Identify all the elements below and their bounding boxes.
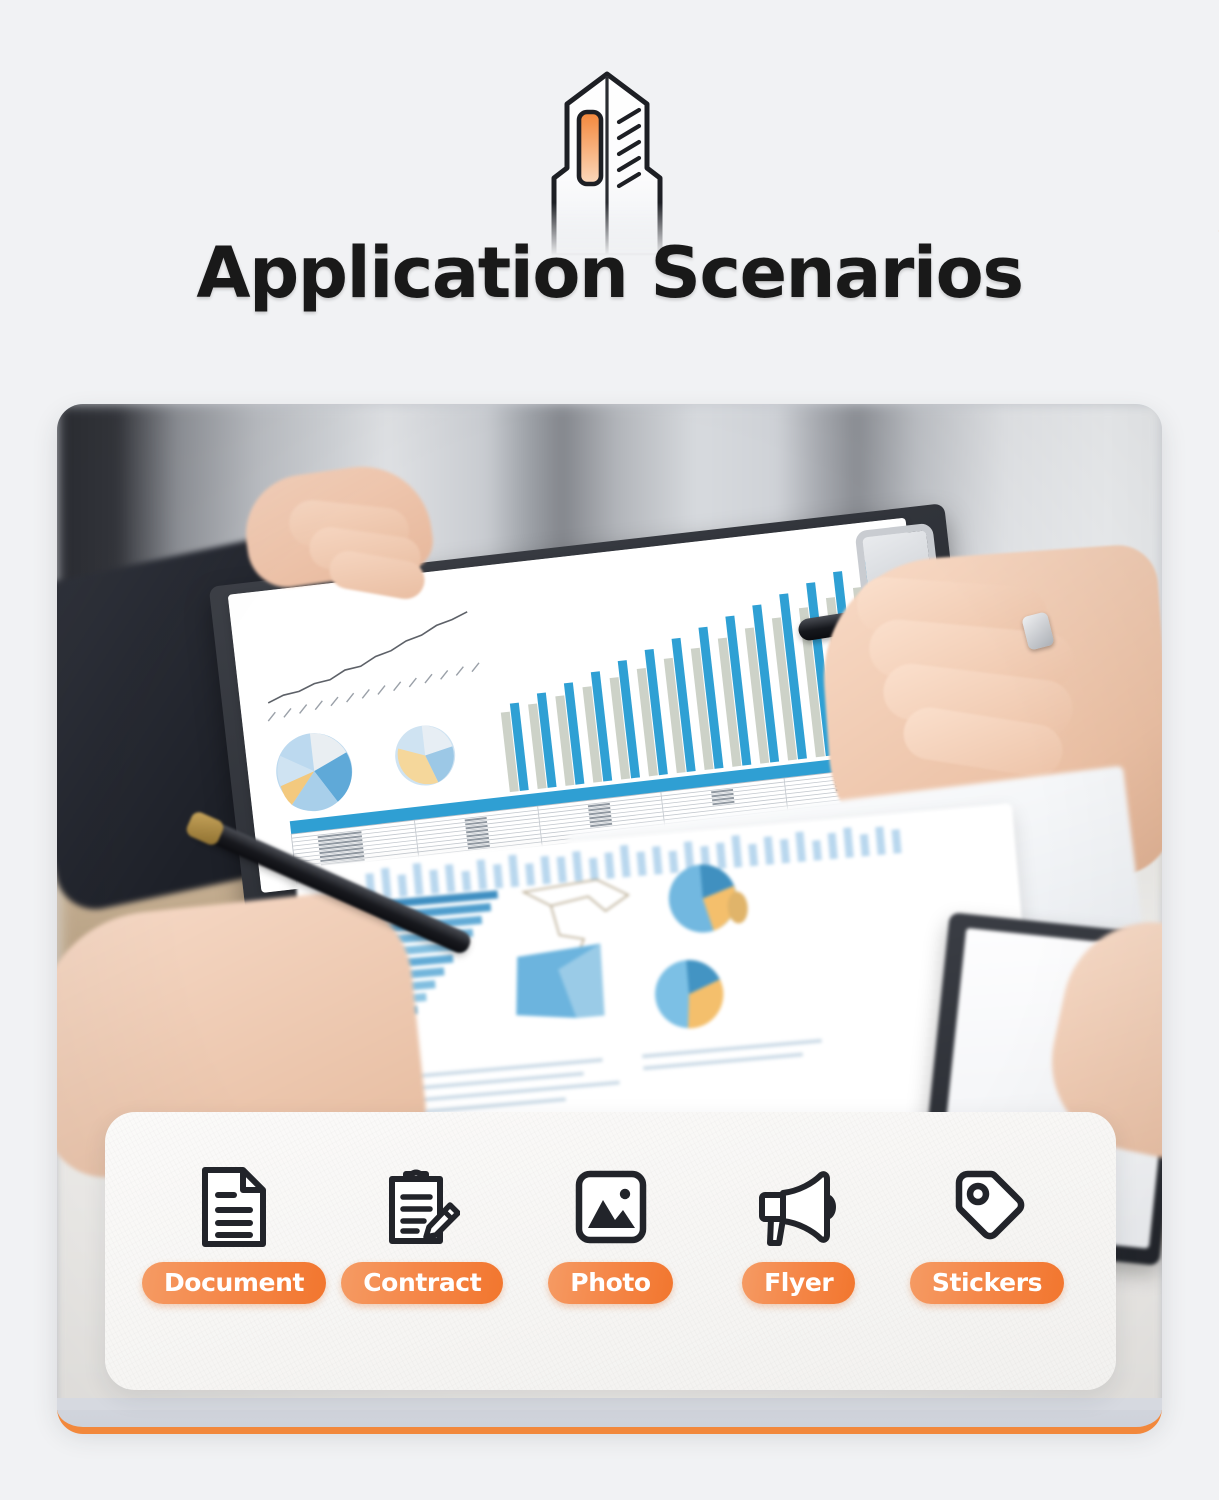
- category-item-photo[interactable]: Photo: [518, 1164, 704, 1304]
- category-label-contract[interactable]: Contract: [341, 1262, 503, 1304]
- category-item-document[interactable]: Document: [141, 1164, 327, 1304]
- photo-accent-bar: [57, 1404, 1162, 1434]
- contract-clipboard-pen-icon: [384, 1164, 460, 1250]
- category-label-photo[interactable]: Photo: [548, 1262, 672, 1304]
- office-building-icon: [497, 66, 717, 256]
- category-label-document[interactable]: Document: [142, 1262, 326, 1304]
- page-root: Application Scenarios: [0, 0, 1219, 1500]
- category-list: Document: [105, 1164, 1116, 1304]
- title-row: Application Scenarios: [0, 238, 1219, 308]
- category-label-flyer[interactable]: Flyer: [742, 1262, 855, 1304]
- category-item-stickers[interactable]: Stickers: [894, 1164, 1080, 1304]
- photo-image-icon: [573, 1164, 649, 1250]
- document-icon: [199, 1164, 269, 1250]
- page-title: Application Scenarios: [196, 238, 1022, 308]
- price-tag-icon: [947, 1164, 1027, 1250]
- header: Application Scenarios: [0, 0, 1219, 400]
- category-item-contract[interactable]: Contract: [329, 1164, 515, 1304]
- megaphone-icon: [757, 1164, 841, 1250]
- category-label-stickers[interactable]: Stickers: [910, 1262, 1064, 1304]
- category-item-flyer[interactable]: Flyer: [706, 1164, 892, 1304]
- category-card: Document: [105, 1112, 1116, 1390]
